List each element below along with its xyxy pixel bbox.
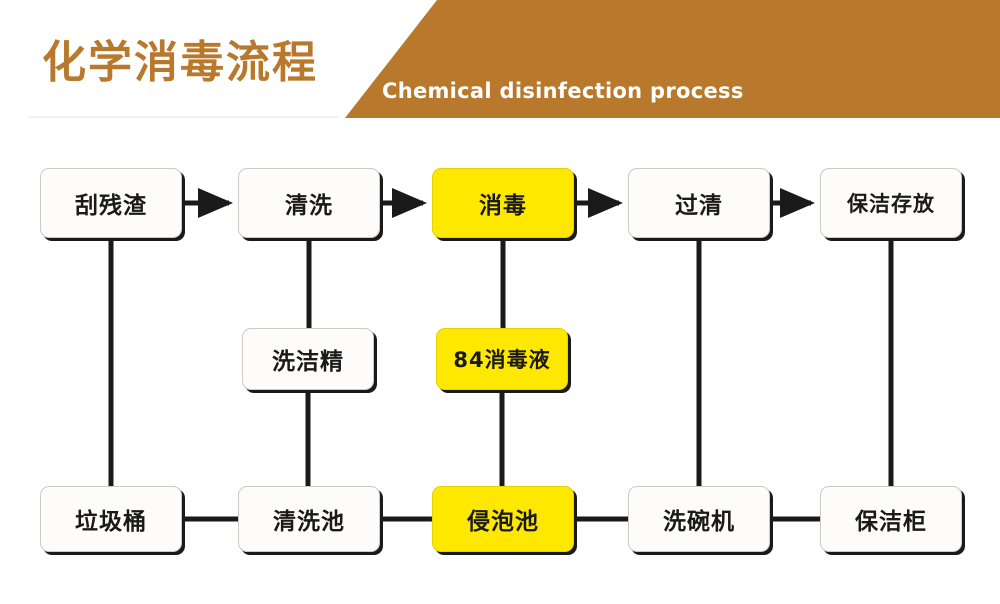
flow-node-n5[interactable]: 保洁存放 <box>820 168 962 238</box>
flow-node-b4[interactable]: 洗碗机 <box>628 486 770 552</box>
flow-node-label: 清洗池 <box>273 502 345 536</box>
flow-node-label: 刮残渣 <box>75 186 147 220</box>
flow-node-label: 保洁存放 <box>847 188 935 218</box>
flow-node-label: 消毒 <box>479 186 527 220</box>
flow-node-n4[interactable]: 过清 <box>628 168 770 238</box>
flow-node-label: 洗洁精 <box>272 342 344 376</box>
flow-node-m2[interactable]: 洗洁精 <box>242 328 374 390</box>
flow-node-label: 84消毒液 <box>453 344 550 374</box>
flow-node-b1[interactable]: 垃圾桶 <box>40 486 182 552</box>
flow-node-label: 清洗 <box>285 186 333 220</box>
flow-node-b5[interactable]: 保洁柜 <box>820 486 962 552</box>
flow-node-n1[interactable]: 刮残渣 <box>40 168 182 238</box>
flow-node-b3[interactable]: 侵泡池 <box>432 486 574 552</box>
flow-node-label: 侵泡池 <box>467 502 539 536</box>
flow-node-label: 过清 <box>675 186 723 220</box>
flow-node-b2[interactable]: 清洗池 <box>238 486 380 552</box>
flow-node-n2[interactable]: 清洗 <box>238 168 380 238</box>
process-flow-diagram: 刮残渣清洗消毒过清保洁存放洗洁精84消毒液垃圾桶清洗池侵泡池洗碗机保洁柜 <box>0 0 1000 604</box>
flow-node-label: 垃圾桶 <box>75 502 147 536</box>
flow-node-label: 保洁柜 <box>855 502 927 536</box>
flowchart-page: 化学消毒流程 Chemical disinfection process 刮残渣… <box>0 0 1000 604</box>
flow-node-m3[interactable]: 84消毒液 <box>436 328 568 390</box>
flow-node-n3[interactable]: 消毒 <box>432 168 574 238</box>
flow-node-label: 洗碗机 <box>663 502 735 536</box>
